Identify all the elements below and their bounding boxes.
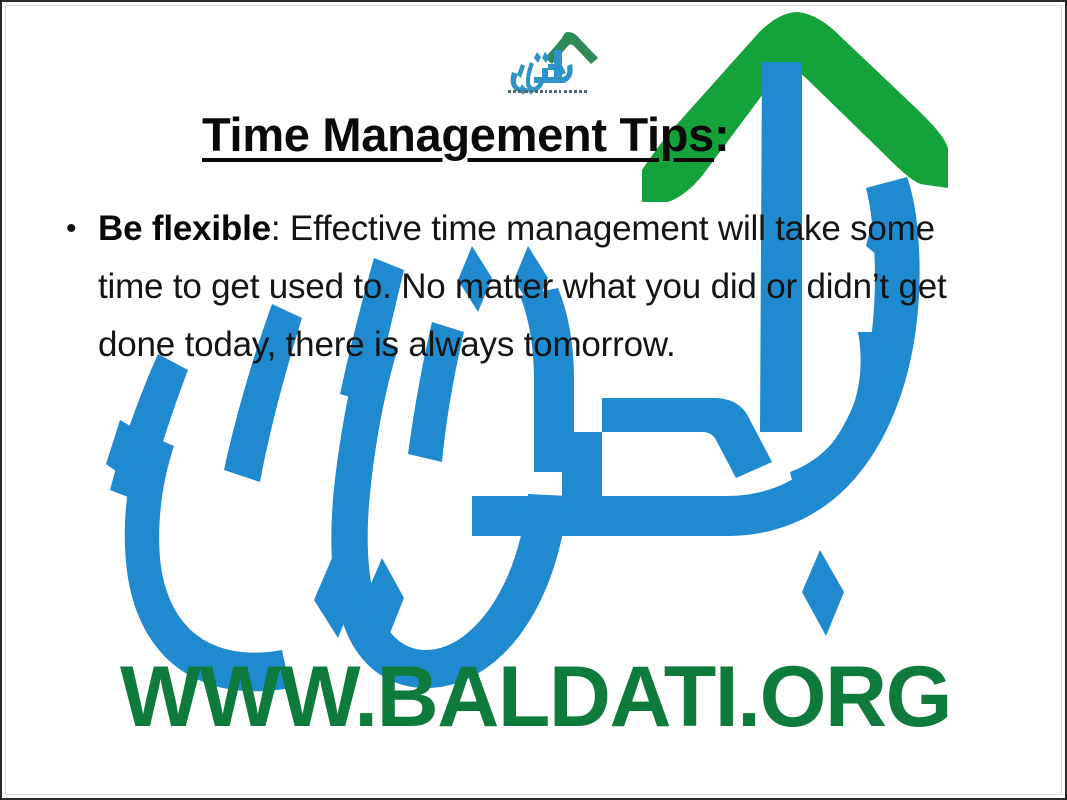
page-title: Time Management Tips:	[202, 110, 729, 159]
site-url-text: WWW.BALDATI.ORG	[2, 654, 1067, 740]
bullet-icon: •	[66, 200, 98, 258]
list-item: • Be flexible: Effective time management…	[66, 200, 1006, 374]
bullet-list: • Be flexible: Effective time management…	[66, 200, 1006, 374]
bullet-lead-label: Be flexible	[98, 209, 271, 248]
presentation-slide: Time Management Tips: • Be flexible: Eff…	[0, 0, 1067, 800]
bullet-text: Be flexible: Effective time management w…	[98, 200, 1006, 374]
page-title-underlined: Time Management Tips	[202, 108, 714, 161]
page-title-colon: :	[714, 108, 729, 161]
slide-content: Time Management Tips: • Be flexible: Eff…	[2, 2, 1067, 800]
